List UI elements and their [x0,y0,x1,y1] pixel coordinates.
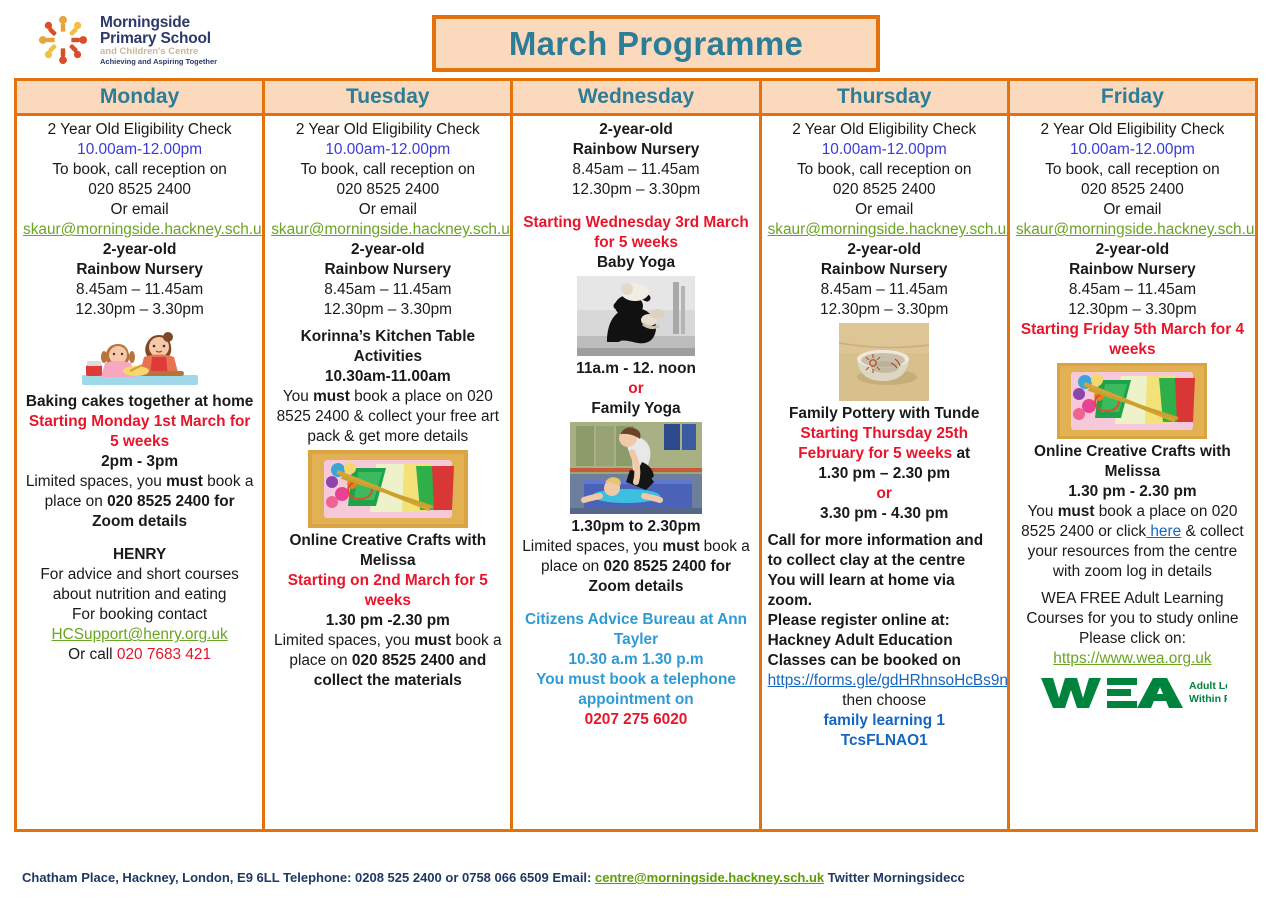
booking-must: must [1058,503,1095,520]
booking-phone: 020 8525 2400 [107,493,210,510]
activity-start-date: Starting on 2nd March for 5 weeks [271,571,504,611]
pottery-info-line-1: Call for more information and to collect… [768,531,1001,571]
nursery-time-2: 12.30pm – 3.30pm [768,300,1001,320]
reception-phone: 020 8525 2400 [23,180,256,200]
nursery-time-1: 8.45am – 11.45am [519,160,752,180]
eligibility-time: 10.00am-12.00pm [23,140,256,160]
programme-grid: Monday 2 Year Old Eligibility Check 10.0… [14,78,1258,832]
page-header: Morningside Primary School and Children'… [0,0,1272,78]
nursery-age: 2-year-old [519,120,752,140]
wea-click-label: Please click on: [1016,629,1249,649]
yoga-booking-note: Limited spaces, you must book a place on… [519,537,752,597]
here-link[interactable]: here [1146,523,1181,540]
svg-text:Adult Learning: Adult Learning [1189,680,1227,692]
day-content-wednesday: 2-year-old Rainbow Nursery 8.45am – 11.4… [513,116,758,829]
registration-url-link[interactable]: https://forms.gle/gdHRhnsoHcBs9nmk9 [768,671,1001,691]
school-logo: Morningside Primary School and Children'… [34,12,217,68]
booking-phone: 020 8525 2400 [352,652,455,669]
activity-booking-note: You must book a place on 020 8525 2400 o… [1016,502,1249,582]
or-email-label: Or email [768,200,1001,220]
kitchen-book-pre: You [283,388,313,405]
baby-yoga-time: 11a.m - 12. noon [519,359,752,379]
or-email-label: Or email [271,200,504,220]
day-column-monday: Monday 2 Year Old Eligibility Check 10.0… [17,81,265,829]
henry-call-line: Or call 020 7683 421 [23,645,256,665]
nursery-age: 2-year-old [768,240,1001,260]
booking-pre: Limited spaces, you [26,473,166,490]
eligibility-title: 2 Year Old Eligibility Check [23,120,256,140]
eligibility-title: 2 Year Old Eligibility Check [768,120,1001,140]
booking-instruction: To book, call reception on [23,160,256,180]
footer-email-link[interactable]: centre@morningside.hackney.sch.uk [595,870,824,885]
contact-email-link[interactable]: skaur@morningside.hackney.sch.uk [271,220,504,240]
day-header-friday: Friday [1010,81,1255,116]
nursery-name: Rainbow Nursery [1016,260,1249,280]
booking-phone: 020 8525 2400 [603,558,706,575]
booking-instruction: To book, call reception on [1016,160,1249,180]
pottery-start-date: Starting Thursday 25th February for 5 we… [798,425,968,462]
nursery-time-2: 12.30pm – 3.30pm [23,300,256,320]
cab-booking-note: You must book a telephone appointment on [519,670,752,710]
booking-instruction: To book, call reception on [768,160,1001,180]
then-choose-label: then choose [768,691,1001,711]
craft-pack-photo [1057,363,1207,439]
nursery-time-2: 12.30pm – 3.30pm [1016,300,1249,320]
nursery-name: Rainbow Nursery [23,260,256,280]
kitchen-book-must: must [313,388,350,405]
activity-title: Online Creative Crafts with Melissa [1016,442,1249,482]
cab-phone: 0207 275 6020 [519,710,752,730]
henry-call-pre: Or call [68,646,117,663]
eligibility-time: 10.00am-12.00pm [768,140,1001,160]
henry-phone: 020 7683 421 [117,646,211,663]
day-label-tuesday: Tuesday [346,85,430,109]
kitchen-time: 10.30am-11.00am [271,367,504,387]
day-content-monday: 2 Year Old Eligibility Check 10.00am-12.… [17,116,262,829]
svg-text:Within Reach: Within Reach [1189,693,1227,705]
booking-must: must [166,473,203,490]
yoga-or-label: or [519,379,752,399]
reception-phone: 020 8525 2400 [1016,180,1249,200]
page-title-box: March Programme [432,15,880,72]
booking-must: must [663,538,700,555]
kitchen-booking-note: You must book a place on 020 8525 2400 &… [271,387,504,447]
family-yoga-time: 1.30pm to 2.30pm [519,517,752,537]
pottery-time-1: 1.30 pm – 2.30 pm [768,464,1001,484]
eligibility-title: 2 Year Old Eligibility Check [1016,120,1249,140]
footer-address: Chatham Place, Hackney, London, E9 6LL T… [22,870,595,885]
contact-email-link[interactable]: skaur@morningside.hackney.sch.uk [768,220,1001,240]
booking-pre: Limited spaces, you [274,632,414,649]
page-title: March Programme [509,25,803,63]
nursery-name: Rainbow Nursery [271,260,504,280]
day-header-monday: Monday [17,81,262,116]
family-yoga-photo [570,422,702,514]
activity-booking-note: Limited spaces, you must book a place on… [271,631,504,691]
pottery-bowl-photo [839,323,929,401]
henry-description: For advice and short courses about nutri… [23,565,256,605]
reception-phone: 020 8525 2400 [271,180,504,200]
nursery-time-1: 8.45am – 11.45am [768,280,1001,300]
family-yoga-title: Family Yoga [519,399,752,419]
day-content-thursday: 2 Year Old Eligibility Check 10.00am-12.… [762,116,1007,829]
nursery-age: 2-year-old [271,240,504,260]
day-label-monday: Monday [100,85,179,109]
eligibility-time: 10.00am-12.00pm [1016,140,1249,160]
activity-start-date: Starting Monday 1st March for 5 weeks [23,412,256,452]
henry-booking-label: For booking contact [23,605,256,625]
activity-start-date: Starting Friday 5th March for 4 weeks [1016,320,1249,360]
pottery-or-label: or [768,484,1001,504]
day-header-thursday: Thursday [762,81,1007,116]
henry-title: HENRY [23,545,256,565]
nursery-time-1: 8.45am – 11.45am [1016,280,1249,300]
wea-logo: Adult Learning Within Reach [1037,672,1227,712]
activity-time: 1.30 pm -2.30 pm [271,611,504,631]
page-footer: Chatham Place, Hackney, London, E9 6LL T… [22,870,1252,885]
activity-title: Online Creative Crafts with Melissa [271,531,504,571]
sunburst-people-logo [34,12,92,68]
pottery-title: Family Pottery with Tunde [768,404,1001,424]
contact-email-link[interactable]: skaur@morningside.hackney.sch.uk [23,220,256,240]
activity-booking-note: Limited spaces, you must book a place on… [23,472,256,532]
wea-description: WEA FREE Adult Learning Courses for you … [1016,589,1249,629]
nursery-name: Rainbow Nursery [519,140,752,160]
day-column-thursday: Thursday 2 Year Old Eligibility Check 10… [762,81,1010,829]
baby-yoga-photo [577,276,695,356]
course-choice-1: family learning 1 [768,711,1001,731]
day-content-tuesday: 2 Year Old Eligibility Check 10.00am-12.… [265,116,510,829]
baking-mother-child-illustration [74,323,206,389]
reception-phone: 020 8525 2400 [768,180,1001,200]
activity-time: 2pm - 3pm [23,452,256,472]
booking-pre: Limited spaces, you [522,538,662,555]
pottery-time-2: 3.30 pm - 4.30 pm [768,504,1001,524]
activity-time: 1.30 pm - 2.30 pm [1016,482,1249,502]
baby-yoga-title: Baby Yoga [519,253,752,273]
kitchen-title: Korinna’s Kitchen Table Activities [271,327,504,367]
cab-time: 10.30 a.m 1.30 p.m [519,650,752,670]
nursery-name: Rainbow Nursery [768,260,1001,280]
day-label-thursday: Thursday [837,85,932,109]
day-content-friday: 2 Year Old Eligibility Check 10.00am-12.… [1010,116,1255,829]
cab-title: Citizens Advice Bureau at Ann Tayler [519,610,752,650]
pottery-at-label: at [952,445,970,462]
eligibility-time: 10.00am-12.00pm [271,140,504,160]
logo-tagline: Achieving and Aspiring Together [100,58,217,66]
wea-url-link[interactable]: https://www.wea.org.uk [1016,649,1249,669]
contact-email-link[interactable]: skaur@morningside.hackney.sch.uk [1016,220,1249,240]
henry-email-link[interactable]: HCSupport@henry.org.uk [23,625,256,645]
nursery-time-1: 8.45am – 11.45am [271,280,504,300]
booking-must: must [414,632,451,649]
activity-title: Baking cakes together at home [23,392,256,412]
booking-pre: You [1027,503,1057,520]
day-header-tuesday: Tuesday [265,81,510,116]
pottery-info-line-4: Hackney Adult Education Classes can be b… [768,631,1001,671]
logo-line-1: Morningside [100,15,217,31]
day-column-tuesday: Tuesday 2 Year Old Eligibility Check 10.… [265,81,513,829]
day-column-friday: Friday 2 Year Old Eligibility Check 10.0… [1010,81,1255,829]
pottery-start-line: Starting Thursday 25th February for 5 we… [768,424,1001,464]
day-header-wednesday: Wednesday [513,81,758,116]
footer-twitter: Twitter Morningsidecc [824,870,965,885]
nursery-time-2: 12.30pm – 3.30pm [519,180,752,200]
eligibility-title: 2 Year Old Eligibility Check [271,120,504,140]
pottery-info-line-2: You will learn at home via zoom. [768,571,1001,611]
logo-line-3: and Children's Centre [100,47,217,57]
craft-pack-photo [308,450,468,528]
day-column-wednesday: Wednesday 2-year-old Rainbow Nursery 8.4… [513,81,761,829]
course-choice-2: TcsFLNAO1 [768,731,1001,751]
day-label-friday: Friday [1101,85,1164,109]
logo-line-2: Primary School [100,31,217,47]
nursery-time-2: 12.30pm – 3.30pm [271,300,504,320]
nursery-age: 2-year-old [23,240,256,260]
yoga-start-date: Starting Wednesday 3rd March for 5 weeks [519,213,752,253]
day-label-wednesday: Wednesday [578,85,694,109]
or-email-label: Or email [1016,200,1249,220]
nursery-time-1: 8.45am – 11.45am [23,280,256,300]
or-email-label: Or email [23,200,256,220]
nursery-age: 2-year-old [1016,240,1249,260]
booking-instruction: To book, call reception on [271,160,504,180]
pottery-info-line-3: Please register online at: [768,611,1001,631]
